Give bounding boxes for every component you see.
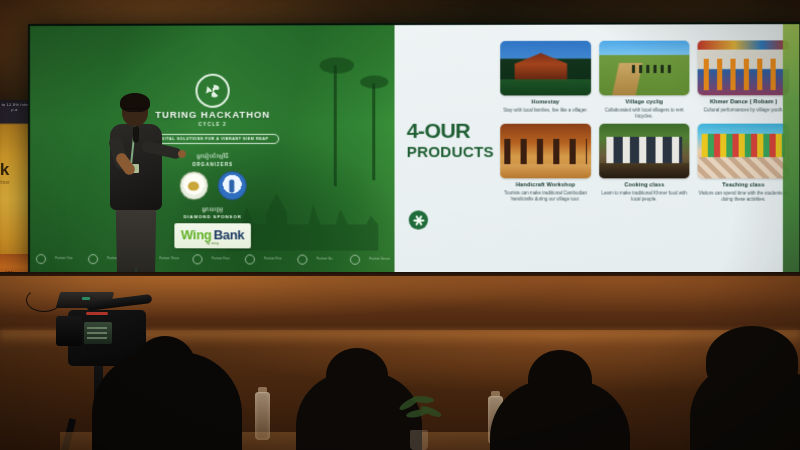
plant-vase: [410, 430, 428, 450]
audience-silhouette-head: [326, 348, 388, 404]
wing-bank-word-second: Bank: [214, 227, 245, 242]
product-image-village-cycling: [599, 41, 690, 96]
wing-bank-logo: Wing Bank by wing: [174, 223, 251, 248]
product-card: Khmer Dance ( Robam ) Cultural performan…: [698, 40, 789, 118]
product-name: Teaching class: [698, 183, 789, 189]
product-card: Teaching class Visitors can spend time w…: [698, 124, 789, 202]
product-image-homestay: [500, 41, 590, 96]
slide-right-content-panel: 4-OUR PRODUCTS Homestay Stay with local …: [395, 24, 800, 276]
conference-scene: Up to 12.5% Interest p.a. nk partner Win…: [0, 0, 800, 450]
presenter-glasses-icon: [124, 108, 146, 114]
microphone-icon: [133, 126, 139, 143]
product-description: Stay with local families, live like a vi…: [500, 108, 590, 114]
partner-name: Partner One: [55, 257, 79, 261]
product-name: Handicraft Workshop: [500, 182, 590, 188]
water-bottle: [255, 392, 270, 440]
product-image-handicraft-workshop: [500, 124, 590, 179]
product-grid: Homestay Stay with local families, live …: [500, 40, 789, 202]
wing-bank-tagline: by wing: [206, 241, 218, 245]
plant-leaf: [420, 404, 443, 420]
product-name: Cooking class: [599, 183, 690, 189]
water-bottle-cap: [258, 387, 267, 393]
product-card: Homestay Stay with local families, live …: [500, 41, 590, 119]
slide-heading-line2: PRODUCTS: [407, 144, 496, 161]
product-image-khmer-dance: [698, 40, 789, 95]
camera-lcd-screen: [84, 322, 112, 344]
recycle-emblem-icon: [195, 74, 229, 108]
partner-mark-icon: [297, 255, 307, 265]
partner-mark-icon: [192, 254, 202, 264]
partner-mark-icon: [350, 255, 360, 265]
slide-heading-line1: 4-OUR: [407, 121, 496, 143]
slide-right-green-edge: [783, 24, 799, 276]
audience-silhouette-head: [706, 326, 798, 396]
water-bottle-cap: [491, 391, 500, 397]
partner-name: Partner Seven: [369, 258, 393, 262]
presenter-right-hand: [178, 150, 186, 158]
palm-fronds-icon: [360, 75, 388, 88]
product-card: Cooking class Learn to make traditional …: [599, 124, 690, 202]
product-description: Visitors can spend time with the student…: [698, 191, 789, 202]
asterisk-badge-icon: [409, 210, 428, 229]
camera-lens-hood: [56, 316, 82, 346]
product-image-teaching-class: [698, 124, 789, 179]
audience-silhouette-head: [134, 336, 196, 398]
partner-name: Partner Six: [317, 258, 341, 262]
product-name: Khmer Dance ( Robam ): [698, 99, 789, 105]
slide-heading: 4-OUR PRODUCTS: [407, 121, 496, 161]
partner-name: Partner Four: [212, 258, 236, 262]
product-name: Village cyclig: [599, 99, 690, 105]
partner-mark-icon: [245, 254, 255, 264]
product-description: Learn to make traditional Khmer food wit…: [599, 191, 690, 202]
audience-silhouette-head: [528, 350, 592, 410]
product-name: Homestay: [500, 99, 590, 105]
slide-left-green-panel: TURING HACKATHON CYCLE 2 DIGITAL SOLUTIO…: [30, 25, 395, 275]
wing-bank-word-first: Wing: [181, 227, 212, 242]
organizer-seal-ministry-icon: [179, 171, 208, 200]
partner-mark-icon: [88, 254, 98, 264]
product-description: Tourists can make traditional Cambodian …: [500, 191, 590, 202]
partner-name: Partner Five: [264, 258, 288, 262]
partner-mark-icon: [36, 254, 46, 264]
palm-trunk-icon: [372, 84, 375, 181]
potted-plant: [398, 396, 444, 450]
product-image-cooking-class: [599, 124, 690, 179]
product-description: Cultural performances by village youth.: [698, 107, 789, 113]
product-description: Collaborated with local villagers to ren…: [599, 107, 690, 118]
camera-record-light: [86, 312, 108, 315]
organizer-seal-institute-icon: [217, 171, 246, 200]
wing-bank-wordmark: Wing Bank: [181, 227, 244, 242]
product-card: Handicraft Workshop Tourists can make tr…: [500, 124, 590, 202]
palm-trunk-icon: [334, 65, 337, 186]
partner-logo-strip: Partner One Partner Two Partner Three Pa…: [30, 253, 401, 266]
product-card: Village cyclig Collaborated with local v…: [599, 41, 690, 119]
palm-fronds-icon: [320, 57, 354, 73]
